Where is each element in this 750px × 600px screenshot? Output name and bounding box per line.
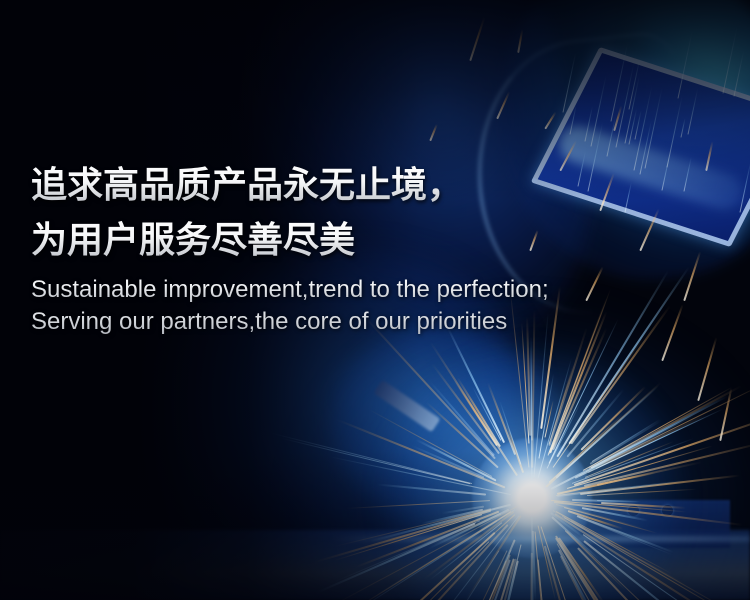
subheadline-line-1: Sustainable improvement,trend to the per… xyxy=(31,274,721,306)
headline-line-2: 为用户服务尽善尽美 xyxy=(31,213,721,268)
headline-line-1: 追求高品质产品永无止境， xyxy=(31,158,721,213)
banner-copy-block: 追求高品质产品永无止境， 为用户服务尽善尽美 Sustainable impro… xyxy=(31,158,721,338)
bottom-vignette-overlay xyxy=(0,450,750,600)
hero-banner: 追求高品质产品永无止境， 为用户服务尽善尽美 Sustainable impro… xyxy=(0,0,750,600)
subheadline-line-2: Serving our partners,the core of our pri… xyxy=(31,306,721,338)
